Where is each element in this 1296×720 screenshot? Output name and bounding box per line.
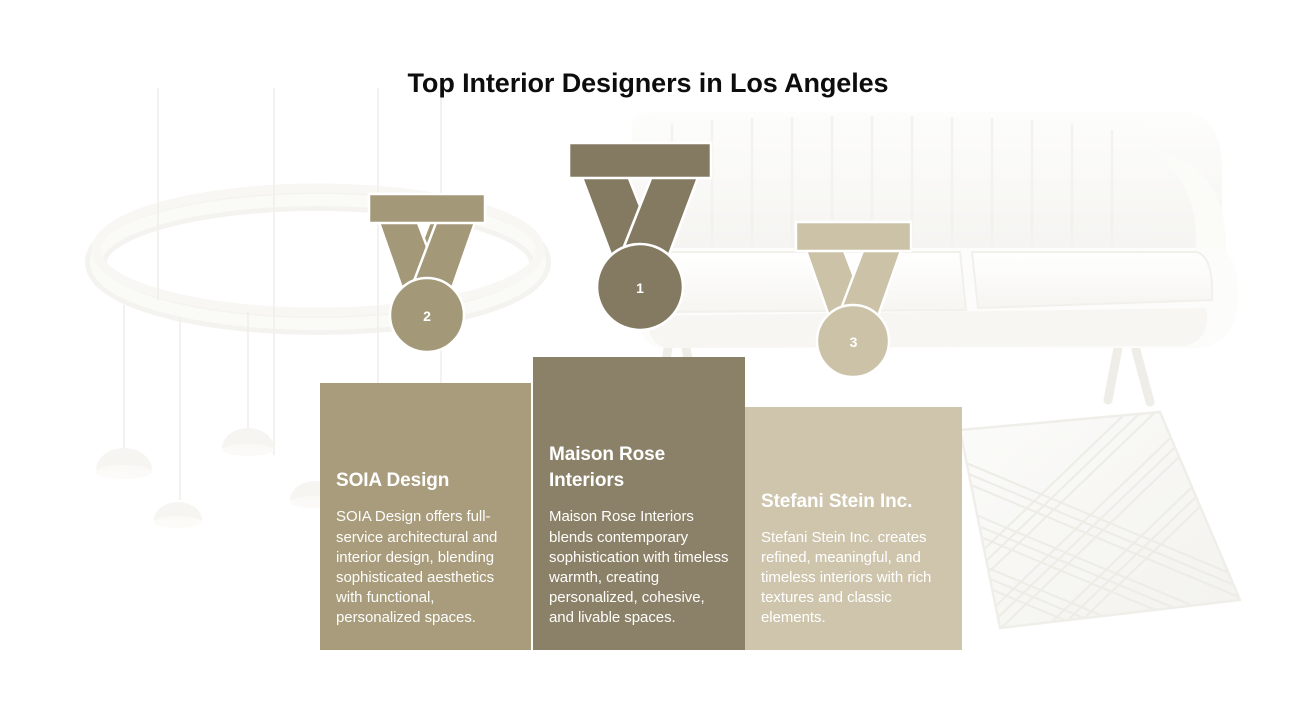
designer-description-rank-2: SOIA Design offers full-service architec… bbox=[336, 507, 515, 628]
designer-name-rank-2: SOIA Design bbox=[336, 468, 515, 495]
designer-name-rank-3: Stefani Stein Inc. bbox=[761, 489, 946, 516]
medal-rank-number-1: 1 bbox=[543, 280, 737, 296]
medal-icon-rank-2: 2 bbox=[347, 192, 507, 354]
podium-card-rank-3[interactable]: Stefani Stein Inc. Stefani Stein Inc. cr… bbox=[745, 407, 962, 650]
designer-name-rank-1: Maison Rose Interiors bbox=[549, 442, 729, 496]
slide-canvas: Top Interior Designers in Los Angeles 2 bbox=[0, 0, 1296, 720]
medal-rank-number-2: 2 bbox=[347, 308, 507, 324]
podium-card-rank-1[interactable]: Maison Rose Interiors Maison Rose Interi… bbox=[533, 357, 745, 650]
medal-rank-number-3: 3 bbox=[776, 334, 931, 350]
designer-description-rank-1: Maison Rose Interiors blends contemporar… bbox=[549, 507, 729, 628]
designer-description-rank-3: Stefani Stein Inc. creates refined, mean… bbox=[761, 528, 946, 628]
page-title: Top Interior Designers in Los Angeles bbox=[0, 68, 1296, 99]
podium-card-rank-2[interactable]: SOIA Design SOIA Design offers full-serv… bbox=[320, 383, 531, 650]
medal-icon-rank-3: 3 bbox=[776, 219, 931, 377]
medal-icon-rank-1: 1 bbox=[543, 140, 737, 330]
